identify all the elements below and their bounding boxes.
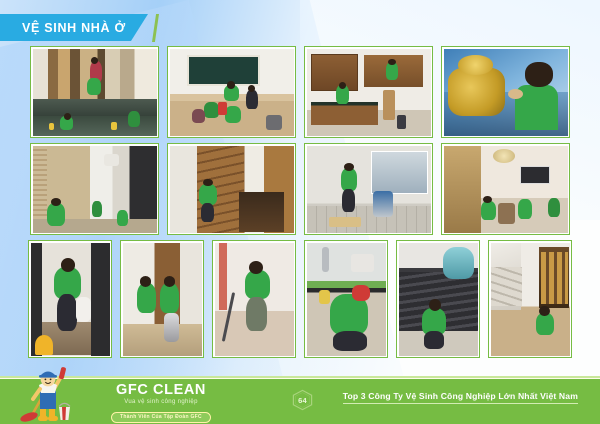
footer-slogan-block: Top 3 Công Ty Vệ Sinh Công Nghiệp Lớn Nh…: [343, 391, 578, 404]
footer-slogan: Top 3 Công Ty Vệ Sinh Công Nghiệp Lớn Nh…: [343, 391, 578, 401]
mascot-icon: [16, 363, 78, 424]
photo-image: [33, 49, 157, 136]
photo-image: [444, 146, 568, 233]
photo-image: [123, 243, 202, 356]
photo-card[interactable]: [396, 240, 480, 358]
photo-image: [215, 243, 294, 356]
photo-image: [307, 146, 431, 233]
photo-card[interactable]: [441, 46, 570, 138]
photo-card[interactable]: [120, 240, 204, 358]
gallery-row-1: [0, 46, 600, 138]
gallery-row-3: [0, 240, 600, 358]
page-title: VỆ SINH NHÀ Ở: [0, 21, 126, 35]
photo-gallery: [0, 46, 600, 358]
photo-card[interactable]: [304, 240, 388, 358]
brand-tagline: Vua vệ sinh công nghiệp: [86, 399, 236, 405]
brand-block: GFC CLEAN Vua vệ sinh công nghiệp Thành …: [86, 382, 236, 423]
gallery-row-2: [0, 143, 600, 235]
footer-slogan-underline: [343, 403, 578, 404]
photo-image: [491, 243, 570, 356]
photo-image: [444, 49, 568, 136]
photo-card[interactable]: [304, 143, 433, 235]
photo-card[interactable]: [30, 143, 159, 235]
photo-image: [170, 49, 294, 136]
slide-footer: GFC CLEAN Vua vệ sinh công nghiệp Thành …: [0, 376, 600, 424]
photo-image: [33, 146, 157, 233]
footer-top-rule-secondary: [0, 378, 600, 379]
header-accent-slash-icon: [152, 14, 159, 42]
photo-card[interactable]: [30, 46, 159, 138]
photo-image: [307, 49, 431, 136]
photo-card[interactable]: [167, 46, 296, 138]
brand-name: GFC CLEAN: [86, 382, 236, 398]
photo-image: [170, 146, 294, 233]
photo-card[interactable]: [441, 143, 570, 235]
brand-membership-badge: Thành Viên Của Tập Đoàn GFC: [111, 412, 211, 423]
photo-card[interactable]: [304, 46, 433, 138]
photo-image: [307, 243, 386, 356]
photo-card[interactable]: [28, 240, 112, 358]
page-number: 64: [291, 389, 314, 411]
page-number-badge: 64: [291, 389, 314, 411]
photo-card[interactable]: [212, 240, 296, 358]
photo-card[interactable]: [167, 143, 296, 235]
photo-image: [399, 243, 478, 356]
photo-card[interactable]: [488, 240, 572, 358]
slide: VỆ SINH NHÀ Ở: [0, 0, 600, 424]
photo-image: [31, 243, 110, 356]
header-banner: VỆ SINH NHÀ Ở: [0, 14, 148, 41]
